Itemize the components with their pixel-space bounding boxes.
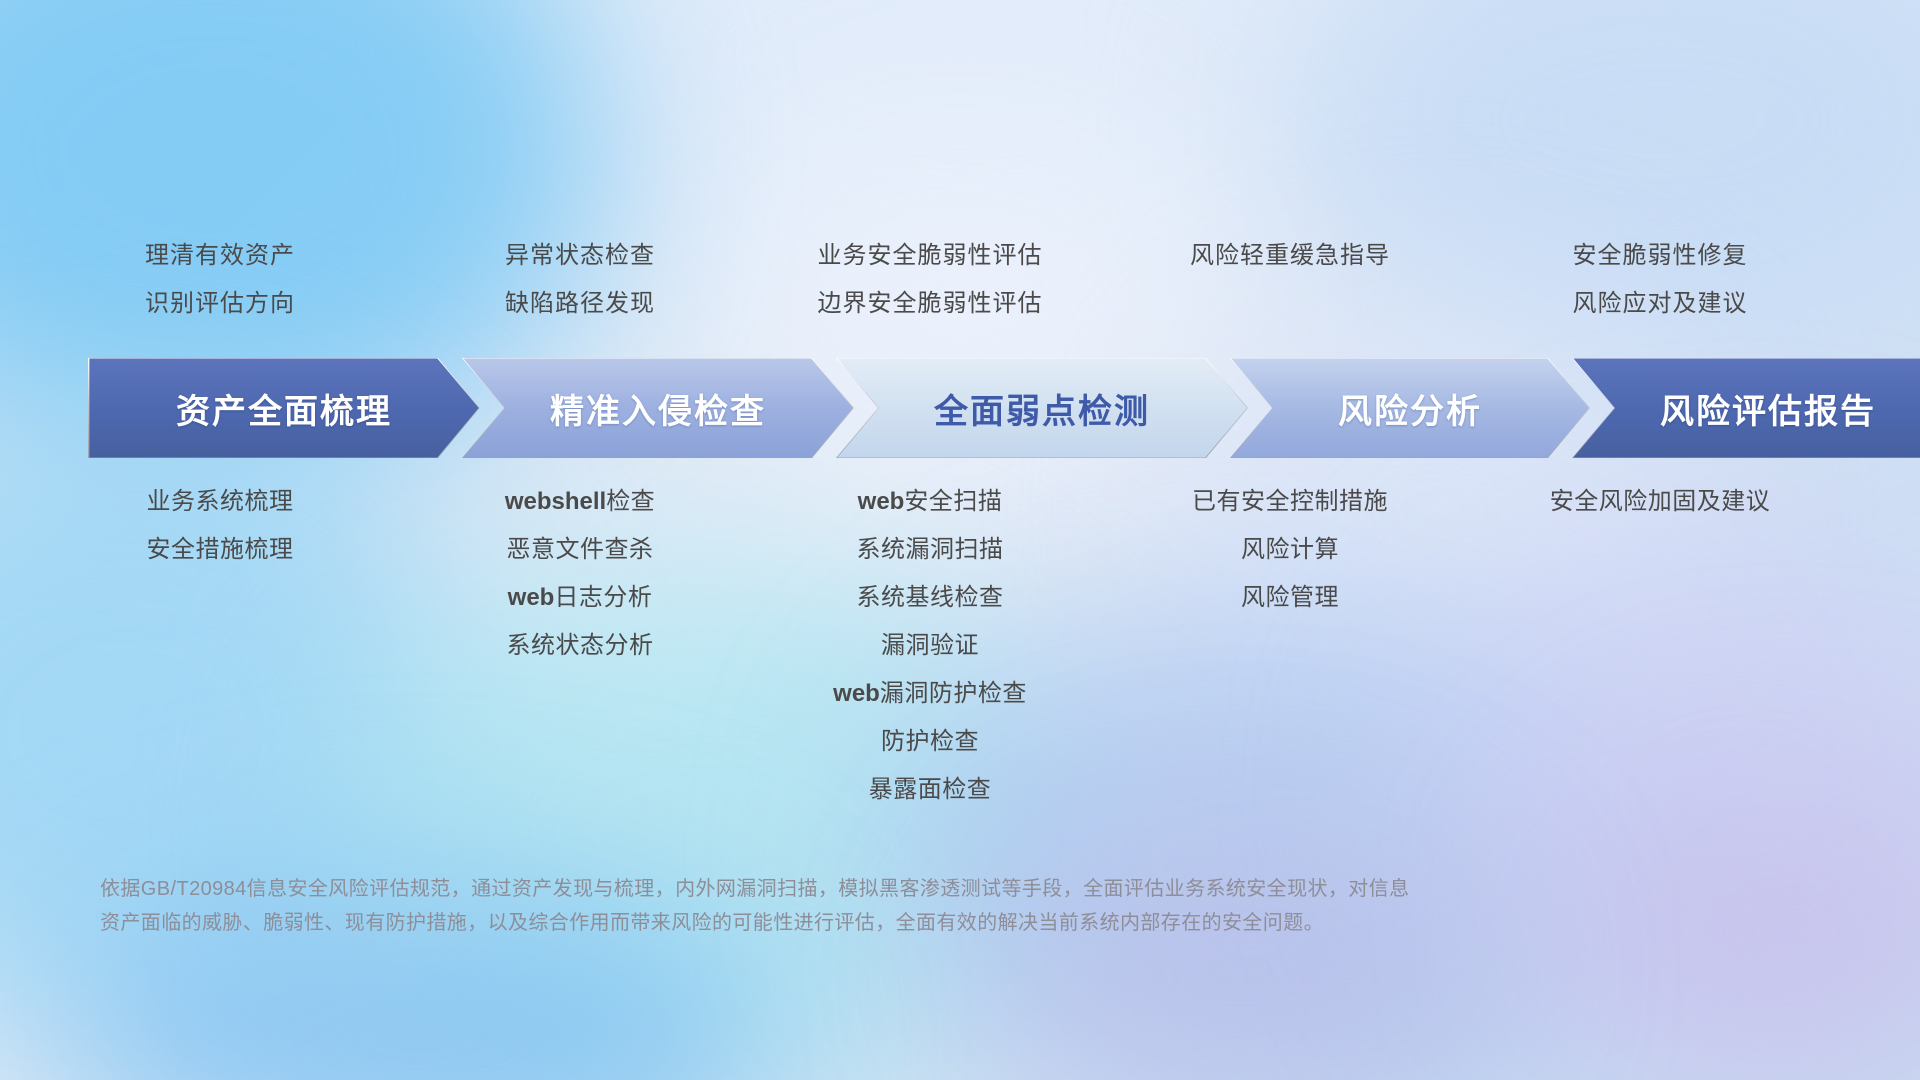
bottom-list-1: 业务系统梳理 安全措施梳理: [30, 478, 410, 814]
chevron-label: 风险分析: [1338, 384, 1482, 433]
top-caption-group-2: 异常状态检查 缺陷路径发现: [410, 232, 750, 328]
chevron-stage-5[interactable]: 风险评估报告: [1572, 358, 1920, 458]
top-captions-row: 理清有效资产 识别评估方向 异常状态检查 缺陷路径发现 业务安全脆弱性评估 边界…: [0, 232, 1920, 328]
bold-token: web: [508, 584, 555, 611]
chevron-label: 资产全面梳理: [176, 384, 392, 433]
list-item: 已有安全控制措施: [1110, 478, 1470, 526]
stage-chevron-banner: 资产全面梳理 精准入侵检查 全面弱点检测 风险分析 风险评估报告: [88, 358, 1848, 458]
list-item: web漏洞防护检查: [750, 670, 1110, 718]
list-item: 系统状态分析: [410, 622, 750, 670]
bottom-list-2: webshell检查 恶意文件查杀 web日志分析 系统状态分析: [410, 478, 750, 814]
top-caption: 风险轻重缓急指导: [1110, 232, 1470, 280]
list-item: 暴露面检查: [750, 766, 1110, 814]
top-caption: 理清有效资产: [30, 232, 410, 280]
item-text: 漏洞防护检查: [880, 680, 1027, 707]
bottom-list-5: 安全风险加固及建议: [1470, 478, 1850, 814]
chevron-stage-2[interactable]: 精准入侵检查: [462, 358, 854, 458]
bottom-items-row: 业务系统梳理 安全措施梳理 webshell检查 恶意文件查杀 web日志分析 …: [0, 478, 1920, 814]
bottom-list-4: 已有安全控制措施 风险计算 风险管理: [1110, 478, 1470, 814]
top-caption: 缺陷路径发现: [410, 280, 750, 328]
item-text: 检查: [606, 488, 655, 515]
bold-token: web: [833, 680, 880, 707]
chevron-label: 风险评估报告: [1660, 384, 1876, 433]
chevron-stage-4[interactable]: 风险分析: [1230, 358, 1590, 458]
list-item: 安全风险加固及建议: [1470, 478, 1850, 526]
list-item: webshell检查: [410, 478, 750, 526]
list-item: 风险管理: [1110, 574, 1470, 622]
list-item: 系统基线检查: [750, 574, 1110, 622]
top-caption-group-1: 理清有效资产 识别评估方向: [30, 232, 410, 328]
list-item: 风险计算: [1110, 526, 1470, 574]
list-item: web日志分析: [410, 574, 750, 622]
list-item: 防护检查: [750, 718, 1110, 766]
top-caption-group-3: 业务安全脆弱性评估 边界安全脆弱性评估: [750, 232, 1110, 328]
chevron-stage-3[interactable]: 全面弱点检测: [836, 358, 1248, 458]
footer-line-1: 依据GB/T20984信息安全风险评估规范，通过资产发现与梳理，内外网漏洞扫描，…: [100, 872, 1740, 906]
chevron-stage-1[interactable]: 资产全面梳理: [88, 358, 480, 458]
top-caption: 业务安全脆弱性评估: [750, 232, 1110, 280]
top-caption-group-5: 安全脆弱性修复 风险应对及建议: [1470, 232, 1850, 328]
chevron-label: 精准入侵检查: [550, 384, 766, 433]
list-item: 安全措施梳理: [30, 526, 410, 574]
bold-token: webshell: [505, 488, 606, 515]
list-item: 业务系统梳理: [30, 478, 410, 526]
bottom-list-3: web安全扫描 系统漏洞扫描 系统基线检查 漏洞验证 web漏洞防护检查 防护检…: [750, 478, 1110, 814]
list-item: 漏洞验证: [750, 622, 1110, 670]
top-caption: 识别评估方向: [30, 280, 410, 328]
process-flow-diagram: 理清有效资产 识别评估方向 异常状态检查 缺陷路径发现 业务安全脆弱性评估 边界…: [0, 0, 1920, 1080]
chevron-label: 全面弱点检测: [934, 384, 1150, 433]
footer-description: 依据GB/T20984信息安全风险评估规范，通过资产发现与梳理，内外网漏洞扫描，…: [100, 872, 1740, 940]
top-caption: 异常状态检查: [410, 232, 750, 280]
bold-token: web: [858, 488, 905, 515]
item-text: 日志分析: [554, 584, 652, 611]
top-caption: 安全脆弱性修复: [1470, 232, 1850, 280]
list-item: 恶意文件查杀: [410, 526, 750, 574]
list-item: 系统漏洞扫描: [750, 526, 1110, 574]
list-item: web安全扫描: [750, 478, 1110, 526]
item-text: 安全扫描: [904, 488, 1002, 515]
top-caption: 边界安全脆弱性评估: [750, 280, 1110, 328]
top-caption-group-4: 风险轻重缓急指导: [1110, 232, 1470, 328]
top-caption: 风险应对及建议: [1470, 280, 1850, 328]
footer-line-2: 资产面临的威胁、脆弱性、现有防护措施，以及综合作用而带来风险的可能性进行评估，全…: [100, 906, 1740, 940]
